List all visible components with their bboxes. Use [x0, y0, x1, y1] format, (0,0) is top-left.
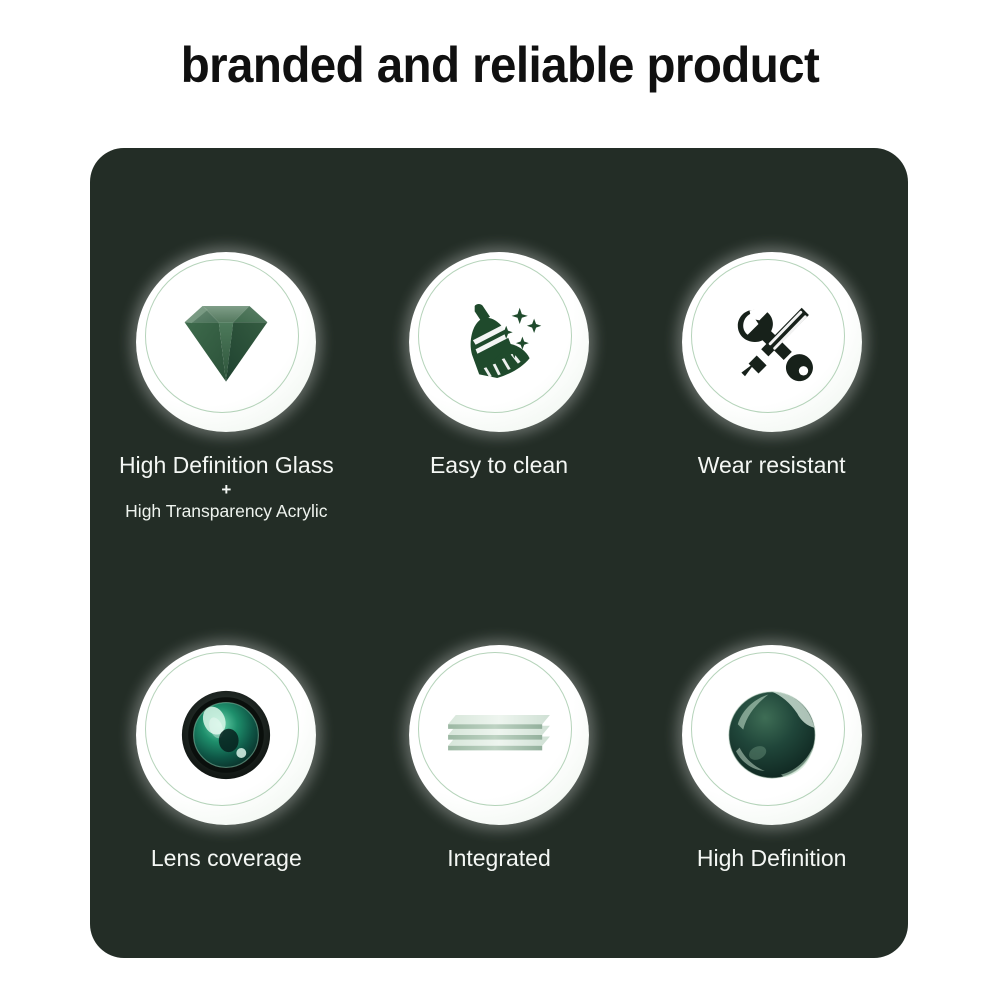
feature-item-high-definition-glass[interactable]: High Definition Glass + High Transparenc…	[90, 148, 363, 553]
glossy-droplet-icon	[718, 681, 826, 789]
feature-item-high-definition[interactable]: High Definition	[635, 553, 908, 958]
diamond-icon	[172, 288, 280, 396]
feature-label: Lens coverage	[90, 845, 363, 872]
feature-icon-badge	[682, 252, 862, 432]
feature-label: High Definition Glass	[90, 452, 363, 479]
feature-icon-badge	[409, 645, 589, 825]
feature-grid: High Definition Glass + High Transparenc…	[90, 148, 908, 958]
feature-label-wrap: High Definition Glass + High Transparenc…	[90, 452, 363, 522]
feature-label-wrap: Integrated	[363, 845, 636, 872]
feature-item-integrated[interactable]: Integrated	[363, 553, 636, 958]
feature-icon-badge	[409, 252, 589, 432]
feature-label: Integrated	[363, 845, 636, 872]
wrench-screwdriver-icon	[718, 288, 826, 396]
feature-icon-badge	[682, 645, 862, 825]
feature-label: Wear resistant	[635, 452, 908, 479]
stacked-glass-layers-icon	[445, 681, 553, 789]
camera-lens-icon	[172, 681, 280, 789]
feature-icon-badge	[136, 252, 316, 432]
feature-label: Easy to clean	[363, 452, 636, 479]
feature-label-wrap: Easy to clean	[363, 452, 636, 479]
broom-sparkle-icon	[445, 288, 553, 396]
feature-panel: High Definition Glass + High Transparenc…	[90, 148, 908, 958]
feature-label-wrap: High Definition	[635, 845, 908, 872]
feature-icon-badge	[136, 645, 316, 825]
feature-label-wrap: Lens coverage	[90, 845, 363, 872]
feature-item-lens-coverage[interactable]: Lens coverage	[90, 553, 363, 958]
page-title: branded and reliable product	[25, 38, 975, 93]
feature-label-wrap: Wear resistant	[635, 452, 908, 479]
feature-sublabel: High Transparency Acrylic	[90, 501, 363, 522]
feature-label-plus: +	[90, 480, 363, 500]
feature-item-easy-to-clean[interactable]: Easy to clean	[363, 148, 636, 553]
feature-label: High Definition	[635, 845, 908, 872]
feature-item-wear-resistant[interactable]: Wear resistant	[635, 148, 908, 553]
